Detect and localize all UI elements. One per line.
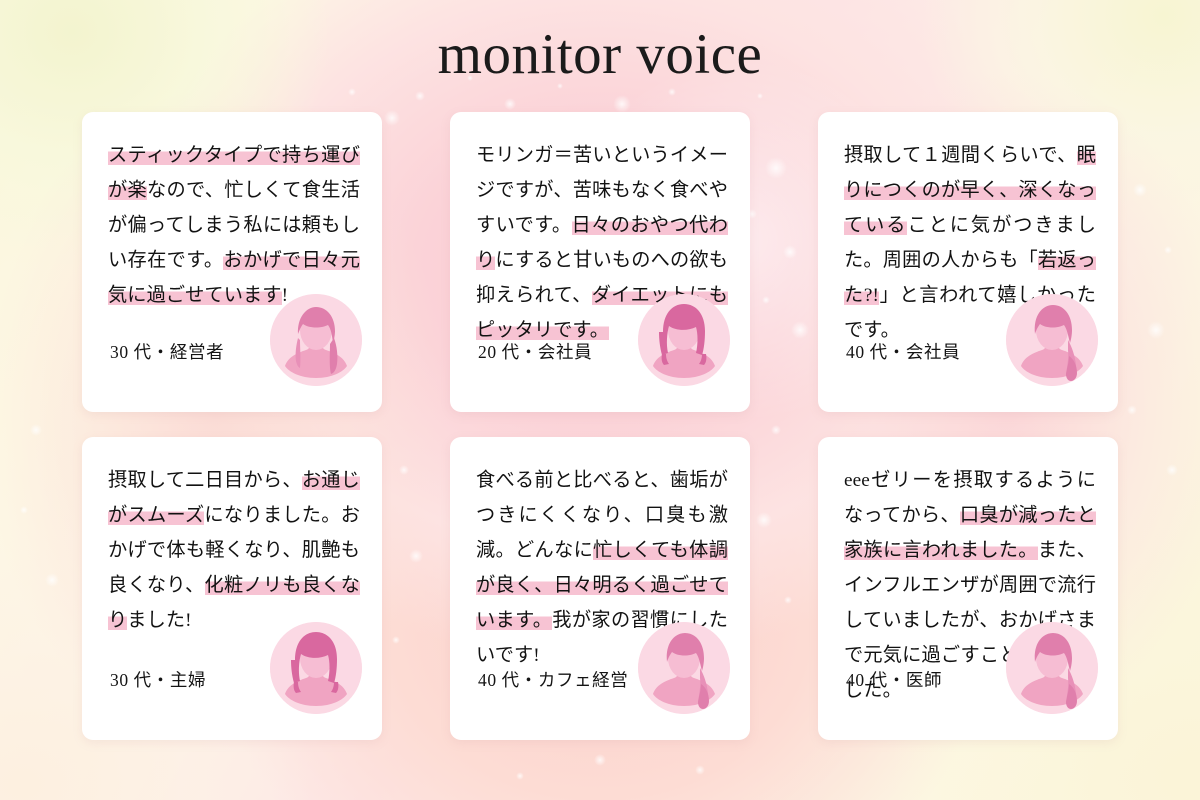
page-title: monitor voice [0, 26, 1200, 83]
persona-label: 30 代・主婦 [110, 667, 206, 692]
testimonial-card: eeeゼリーを摂取するようになってから、口臭が減ったと家族に言われました。また、… [818, 437, 1118, 740]
testimonial-grid: スティックタイプで持ち運びが楽なので、忙しくて食生活が偏ってしまう私には頼もしい… [82, 112, 1118, 740]
card-footer: 40 代・会社員 [844, 294, 1098, 386]
woman-long-hair-avatar-icon [270, 294, 362, 386]
card-body: 摂取して二日目から、お通じがスムーズになりました。おかげで体も軽くなり、肌艶も良… [108, 463, 360, 638]
persona-label: 20 代・会社員 [478, 339, 592, 364]
persona-label: 40 代・会社員 [846, 339, 960, 364]
card-footer: 40 代・医師 [844, 622, 1098, 714]
testimonial-card: 摂取して１週間くらいで、眠りにつくのが早く、深くなっていることに気がつきました。… [818, 112, 1118, 412]
card-footer: 20 代・会社員 [476, 294, 730, 386]
testimonial-card: 食べる前と比べると、歯垢がつきにくくなり、口臭も激減。どんなに忙しくても体調が良… [450, 437, 750, 740]
testimonial-quote: スティックタイプで持ち運びが楽なので、忙しくて食生活が偏ってしまう私には頼もしい… [108, 138, 360, 313]
card-body: スティックタイプで持ち運びが楽なので、忙しくて食生活が偏ってしまう私には頼もしい… [108, 138, 360, 313]
persona-label: 40 代・医師 [846, 667, 942, 692]
persona-label: 40 代・カフェ経営 [478, 667, 628, 692]
testimonial-card: スティックタイプで持ち運びが楽なので、忙しくて食生活が偏ってしまう私には頼もしい… [82, 112, 382, 412]
card-footer: 30 代・経営者 [108, 294, 362, 386]
persona-label: 30 代・経営者 [110, 339, 224, 364]
testimonial-card: モリンガ＝苦いというイメージですが、苦味もなく食べやすいです。日々のおやつ代わり… [450, 112, 750, 412]
woman-bob-hair-avatar-icon [270, 622, 362, 714]
woman-ponytail-avatar-icon [1006, 294, 1098, 386]
woman-ponytail-avatar-icon [638, 622, 730, 714]
quote-text: 摂取して二日目から、 [108, 470, 302, 491]
card-footer: 40 代・カフェ経営 [476, 622, 730, 714]
woman-bob-hair-avatar-icon [638, 294, 730, 386]
quote-text: 摂取して１週間くらいで、 [844, 145, 1077, 166]
testimonial-quote: 摂取して二日目から、お通じがスムーズになりました。おかげで体も軽くなり、肌艶も良… [108, 463, 360, 638]
testimonial-card: 摂取して二日目から、お通じがスムーズになりました。おかげで体も軽くなり、肌艶も良… [82, 437, 382, 740]
monitor-voice-page: monitor voice スティックタイプで持ち運びが楽なので、忙しくて食生活… [0, 0, 1200, 800]
woman-ponytail-avatar-icon [1006, 622, 1098, 714]
card-footer: 30 代・主婦 [108, 622, 362, 714]
